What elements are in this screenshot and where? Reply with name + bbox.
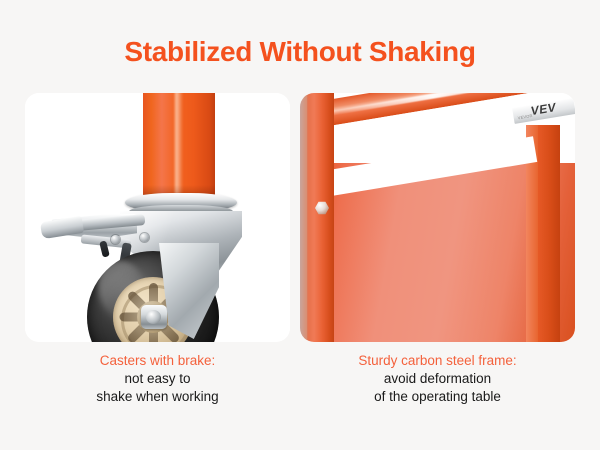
caption-frame: Sturdy carbon steel frame: avoid deforma…: [300, 352, 575, 406]
frame-photo-card: VEVOR VEV: [300, 93, 575, 342]
steel-frame-photo: VEVOR VEV: [300, 93, 575, 342]
axle-nut: [146, 310, 161, 324]
caster-photo-card: [25, 93, 290, 342]
page-title: Stabilized Without Shaking: [0, 36, 600, 68]
promo-banner: Stabilized Without Shaking: [0, 0, 600, 450]
caster-wheel-photo: [25, 93, 290, 342]
caption-line-1: avoid deformation: [300, 370, 575, 388]
caption-line-2: shake when working: [25, 388, 290, 406]
fork-rivet-left: [111, 235, 120, 244]
caption-line-2: of the operating table: [300, 388, 575, 406]
caption-heading: Casters with brake:: [25, 352, 290, 370]
caption-heading: Sturdy carbon steel frame:: [300, 352, 575, 370]
frame-post-left: [304, 93, 334, 342]
caption-casters: Casters with brake: not easy to shake wh…: [25, 352, 290, 406]
fork-rivet-right: [140, 233, 149, 242]
caption-line-1: not easy to: [25, 370, 290, 388]
frame-post-left-edge: [300, 93, 307, 342]
leg-highlight: [175, 93, 183, 195]
